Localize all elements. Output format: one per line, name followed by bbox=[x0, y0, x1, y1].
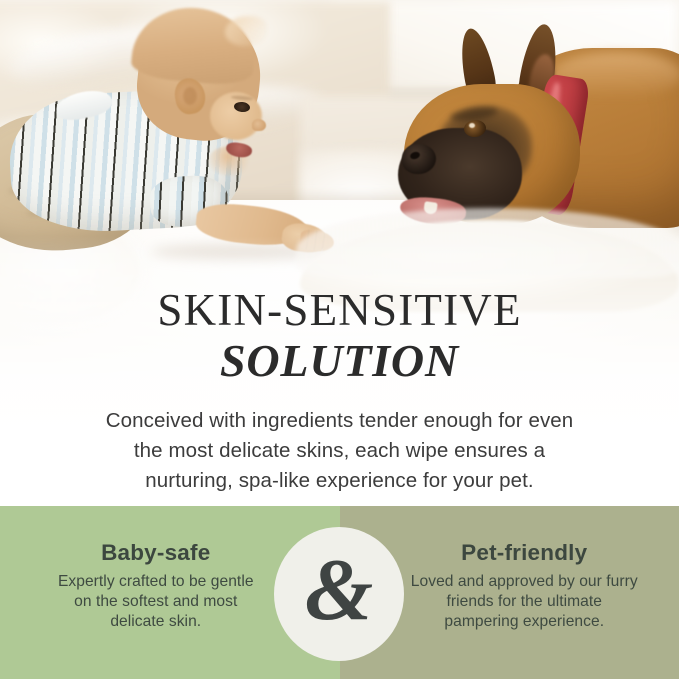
panel-left-content: Baby-safe Expertly crafted to be gentle … bbox=[48, 540, 264, 632]
headline-secondary: SOLUTION bbox=[0, 336, 679, 387]
dog-eye-glint bbox=[469, 123, 475, 128]
panel-right-content: Pet-friendly Loved and approved by our f… bbox=[410, 540, 638, 632]
panel-left-text: Expertly crafted to be gentle on the sof… bbox=[48, 572, 264, 632]
baby-nose bbox=[252, 119, 266, 131]
subcopy-paragraph: Conceived with ingredients tender enough… bbox=[90, 406, 590, 496]
benefit-panels: Baby-safe Expertly crafted to be gentle … bbox=[0, 506, 679, 679]
dog-nose bbox=[402, 144, 436, 174]
ampersand-icon: & bbox=[305, 547, 373, 635]
panel-left-title: Baby-safe bbox=[48, 540, 264, 566]
baby-hair-wisp bbox=[225, 16, 267, 46]
panel-right-title: Pet-friendly bbox=[410, 540, 638, 566]
panel-right-text: Loved and approved by our furry friends … bbox=[410, 572, 638, 632]
product-infographic: SKIN-SENSITIVE SOLUTION Conceived with i… bbox=[0, 0, 679, 679]
baby-ear-inner bbox=[183, 87, 197, 105]
ampersand-medallion: & bbox=[274, 527, 404, 661]
headline-block: SKIN-SENSITIVE SOLUTION Conceived with i… bbox=[0, 288, 679, 496]
headline-primary: SKIN-SENSITIVE bbox=[0, 288, 679, 334]
